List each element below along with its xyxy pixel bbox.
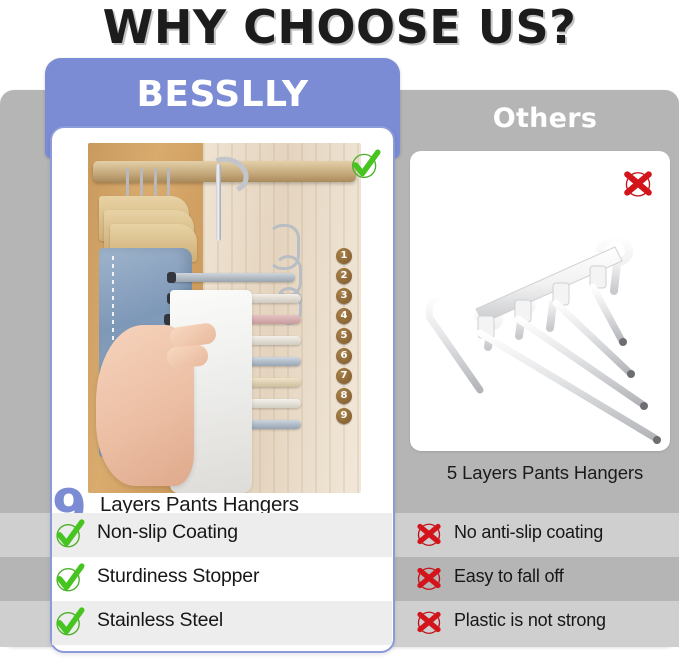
us-product-photo: 1 2 3 4 5 6 7 8 9 — [88, 143, 361, 493]
brand-name: BESSLLY — [45, 74, 400, 115]
red-cross-icon — [414, 519, 444, 549]
feature-label: Sturdiness Stopper — [97, 565, 259, 588]
layer-number-badge: 7 — [336, 368, 352, 384]
wood-hanger-hook — [154, 168, 157, 196]
feature-row: Non-slip Coating — [52, 513, 392, 557]
layer-number-badge: 5 — [336, 328, 352, 344]
hanger-bar — [170, 273, 296, 282]
feature-label: Stainless Steel — [97, 609, 223, 632]
con-label: No anti-slip coating — [454, 522, 603, 543]
layer-number-badge: 1 — [336, 248, 352, 264]
layer-number-badge: 8 — [336, 388, 352, 404]
layer-number-badge: 2 — [336, 268, 352, 284]
comparison-infographic: WHY CHOOSE US? Others — [0, 0, 679, 670]
green-check-icon — [348, 148, 382, 182]
finger — [166, 345, 208, 369]
wood-hanger-hook — [126, 168, 129, 196]
red-cross-icon — [414, 563, 444, 593]
layer-number-column: 1 2 3 4 5 6 7 8 9 — [336, 248, 356, 428]
wood-hanger-hook — [140, 168, 143, 196]
red-cross-icon — [414, 607, 444, 637]
con-label: Plastic is not strong — [454, 610, 606, 631]
con-row: No anti-slip coating — [414, 513, 676, 557]
con-row: Easy to fall off — [414, 557, 676, 601]
others-title: Others — [420, 103, 670, 134]
green-check-icon — [52, 561, 86, 595]
green-check-icon — [52, 517, 86, 551]
layer-number-badge: 3 — [336, 288, 352, 304]
layer-number-badge: 4 — [336, 308, 352, 324]
hanger-stem — [216, 164, 221, 241]
others-caption: 5 Layers Pants Hangers — [414, 462, 676, 484]
page-title: WHY CHOOSE US? — [0, 0, 679, 56]
green-check-icon — [52, 605, 86, 639]
layer-number-badge: 9 — [336, 408, 352, 424]
con-row: Plastic is not strong — [414, 601, 676, 645]
wood-hanger-hook — [167, 168, 170, 196]
feature-row: Sturdiness Stopper — [52, 557, 392, 601]
feature-row: Stainless Steel — [52, 601, 392, 645]
layer-number-badge: 6 — [336, 348, 352, 364]
red-cross-icon — [620, 167, 656, 200]
feature-label: Non-slip Coating — [97, 521, 238, 544]
con-label: Easy to fall off — [454, 566, 564, 587]
